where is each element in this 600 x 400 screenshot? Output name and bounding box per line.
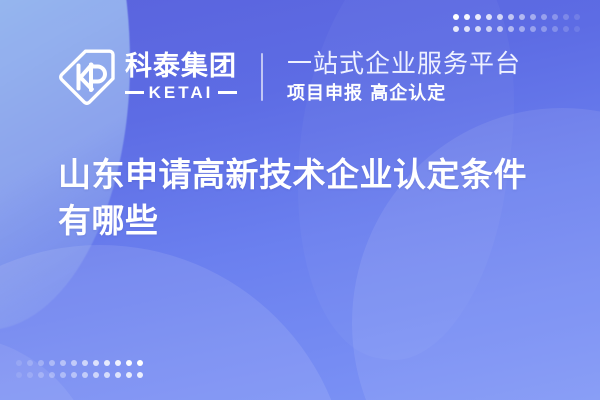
company-name-en-row: KETAI	[125, 84, 237, 101]
decorative-dot	[563, 14, 569, 20]
decorative-dot	[104, 360, 110, 366]
company-name-cn: 科泰集团	[125, 53, 237, 81]
decorative-dot	[82, 372, 88, 378]
decorative-dot	[115, 372, 121, 378]
decorative-dot	[27, 372, 33, 378]
decorative-dot	[104, 372, 110, 378]
promo-banner: 科泰集团 KETAI 一站式企业服务平台 项目申报 高企认定 山东申请高新技术企…	[0, 0, 600, 400]
decorative-dot	[530, 14, 536, 20]
decorative-dot	[126, 372, 132, 378]
decorative-dot	[137, 360, 143, 366]
ketai-diamond-kp-icon	[58, 48, 116, 106]
decorative-dot	[563, 26, 569, 32]
decorative-dot	[497, 26, 503, 32]
decorative-dot	[93, 372, 99, 378]
decorative-dot	[574, 14, 580, 20]
tagline-primary: 一站式企业服务平台	[287, 49, 521, 79]
wordmark-rule-left	[125, 91, 144, 94]
decorative-dot	[93, 360, 99, 366]
banner-header: 科泰集团 KETAI 一站式企业服务平台 项目申报 高企认定	[0, 42, 600, 112]
decorative-dot	[519, 26, 525, 32]
decorative-dot	[60, 372, 66, 378]
decorative-dot	[530, 26, 536, 32]
decorative-dot	[453, 26, 459, 32]
decorative-dot	[574, 26, 580, 32]
decorative-dot	[508, 26, 514, 32]
decorative-dot	[519, 14, 525, 20]
tagline-secondary: 项目申报 高企认定	[287, 83, 521, 105]
brand-wordmark: 科泰集团 KETAI	[125, 53, 237, 101]
decorative-dot	[552, 14, 558, 20]
decorative-dot	[541, 14, 547, 20]
decorative-dot	[38, 372, 44, 378]
company-name-en: KETAI	[149, 84, 214, 101]
bottom-left-dot-grid	[16, 360, 143, 378]
decorative-dot	[27, 360, 33, 366]
decorative-dot	[60, 360, 66, 366]
tagline-group: 一站式企业服务平台 项目申报 高企认定	[287, 49, 521, 105]
decorative-dot	[16, 372, 22, 378]
decorative-dot	[16, 360, 22, 366]
decorative-dot	[49, 360, 55, 366]
decorative-dot	[71, 372, 77, 378]
wordmark-rule-right	[218, 91, 237, 94]
decorative-dot	[137, 372, 143, 378]
decorative-dot	[497, 14, 503, 20]
decorative-dot	[475, 14, 481, 20]
brand-logo: 科泰集团 KETAI	[58, 48, 237, 106]
decorative-dot	[475, 26, 481, 32]
decorative-dot	[71, 360, 77, 366]
page-title: 山东申请高新技术企业认定条件有哪些	[58, 152, 558, 244]
decorative-dot	[49, 372, 55, 378]
header-divider	[261, 53, 263, 101]
decorative-dot	[38, 360, 44, 366]
top-right-dot-grid	[453, 14, 580, 32]
decorative-dot	[464, 26, 470, 32]
decorative-dot	[453, 14, 459, 20]
decorative-dot	[115, 360, 121, 366]
decorative-dot	[486, 26, 492, 32]
decorative-dot	[464, 14, 470, 20]
decorative-dot	[486, 14, 492, 20]
decorative-dot	[541, 26, 547, 32]
decorative-dot	[126, 360, 132, 366]
decorative-dot	[508, 14, 514, 20]
decorative-dot	[552, 26, 558, 32]
decorative-dot	[82, 360, 88, 366]
